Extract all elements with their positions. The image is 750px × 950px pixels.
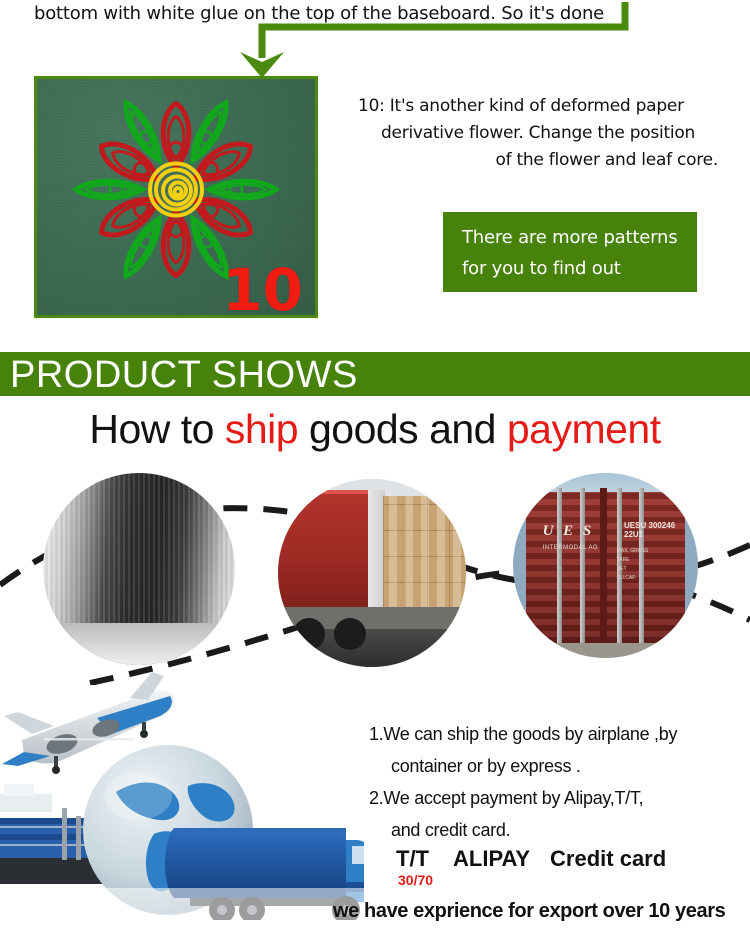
- container-logo: U E S: [543, 523, 595, 540]
- heading-part-2: goods and: [298, 406, 507, 452]
- loaded-truck-photo: [278, 479, 466, 667]
- container-code-line-2: 22U1: [624, 530, 675, 539]
- callout-line-2: for you to find out: [462, 253, 697, 284]
- spec-row: NET: [617, 565, 649, 574]
- container-scene: U E S INTERMODAL AG UESU 300246 22U1 MAX…: [513, 473, 698, 658]
- sealed-container-photo: U E S INTERMODAL AG UESU 300246 22U1 MAX…: [513, 473, 698, 658]
- shipping-payment-bullets: 1.We can ship the goods by airplane ,by …: [369, 718, 749, 846]
- logistics-composite-image: [0, 660, 364, 920]
- bullet-2-line-2: and credit card.: [369, 814, 749, 846]
- locking-bar: [557, 488, 562, 643]
- wheel: [293, 618, 325, 650]
- truck-scene: [278, 479, 466, 667]
- door-seam: [600, 488, 607, 643]
- tt-payment-ratio: 30/70: [398, 872, 433, 888]
- container-code-line-1: UESU 300246: [624, 521, 675, 530]
- shipping-payment-heading: How to ship goods and payment: [0, 405, 750, 453]
- payment-methods-row: T/TALIPAYCredit card: [396, 846, 666, 872]
- quilled-flower-photo: 10: [34, 76, 318, 318]
- bullet-1-line-2: container or by express .: [369, 750, 749, 782]
- spec-row: MAX. GROSS: [617, 547, 649, 556]
- spec-row: TARE: [617, 556, 649, 565]
- carton-stack: [383, 496, 466, 609]
- container-spec-rows: MAX. GROSS TARE NET CU.CAP.: [617, 547, 649, 583]
- trailer-side: [278, 494, 376, 611]
- bullet-2-line-1: 2.We accept payment by Alipay,T/T,: [369, 782, 749, 814]
- empty-container-interior-photo: [43, 473, 235, 665]
- heading-highlight-payment: payment: [507, 406, 661, 452]
- caption-line-1: 10: It's another kind of deformed paper: [358, 93, 718, 120]
- caption-line-3: of the flower and leaf core.: [358, 147, 718, 174]
- container-logo-subtitle: INTERMODAL AG: [543, 545, 599, 551]
- spec-row: CU.CAP.: [617, 574, 649, 583]
- heading-part-1: How to: [89, 406, 225, 452]
- banner-title: PRODUCT SHOWS: [10, 354, 358, 396]
- payment-method-tt: T/T: [396, 846, 429, 872]
- caption-line-2: derivative flower. Change the position: [358, 120, 718, 147]
- product-shows-banner: PRODUCT SHOWS: [0, 352, 750, 396]
- heading-highlight-ship: ship: [225, 406, 298, 452]
- container-floor: [62, 623, 216, 665]
- payment-method-credit-card: Credit card: [550, 846, 666, 872]
- bullet-1-line-1: 1.We can ship the goods by airplane ,by: [369, 718, 749, 750]
- payment-method-alipay: ALIPAY: [453, 846, 530, 872]
- product-detail-page: bottom with white glue on the top of the…: [0, 0, 750, 950]
- locking-bar: [580, 488, 585, 643]
- callout-line-1: There are more patterns: [462, 222, 697, 253]
- step-caption: 10: It's another kind of deformed paper …: [358, 93, 718, 174]
- photo-step-number: 10: [222, 261, 303, 318]
- export-experience-tagline: we have exprience for export over 10 yea…: [333, 900, 725, 923]
- container-code: UESU 300246 22U1: [624, 521, 675, 539]
- more-patterns-callout: There are more patterns for you to find …: [443, 212, 697, 292]
